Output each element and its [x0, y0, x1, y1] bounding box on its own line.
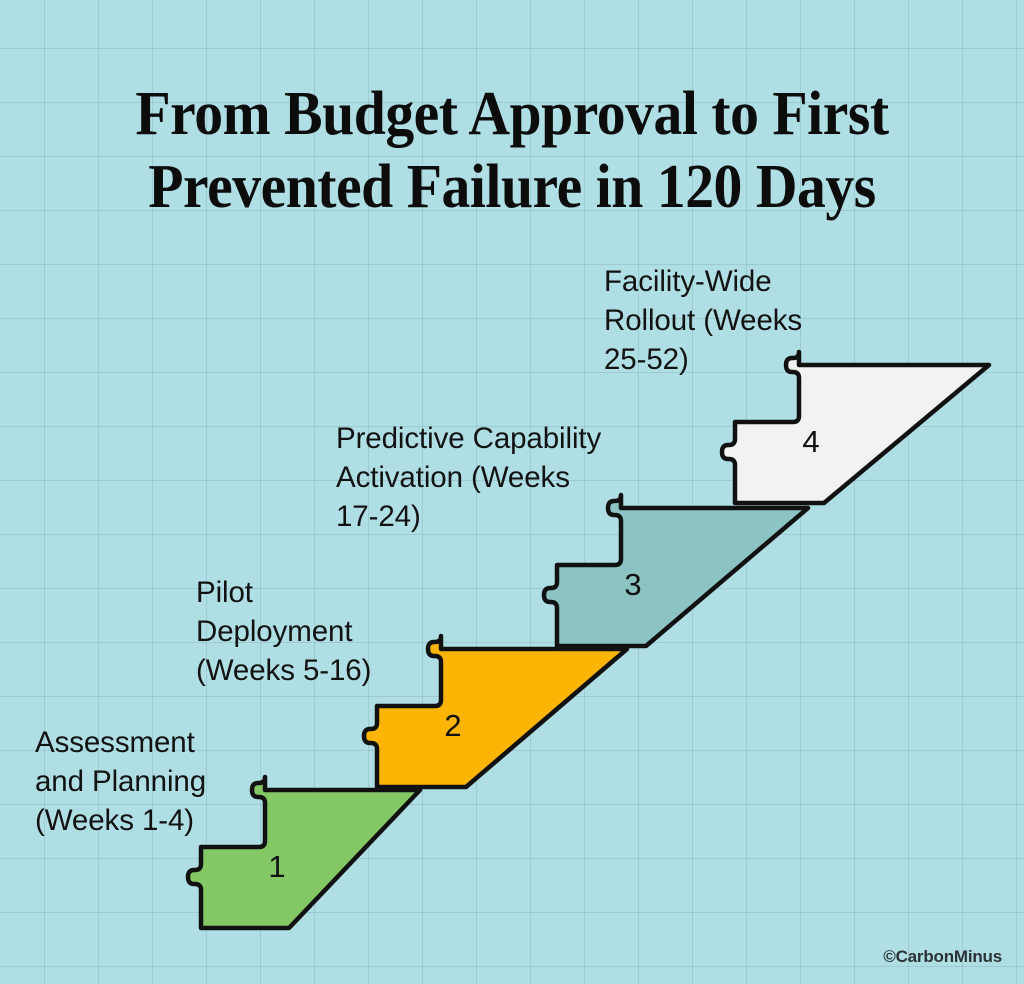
stage-label-1: Assessment and Planning (Weeks 1-4) — [35, 723, 295, 841]
step-number-1: 1 — [268, 849, 285, 884]
stage-label-3: Predictive Capability Activation (Weeks … — [336, 419, 676, 537]
step-number-2: 2 — [444, 708, 461, 743]
step-number-3: 3 — [624, 567, 641, 602]
watermark: ©CarbonMinus — [883, 947, 1002, 967]
stage-label-4: Facility-Wide Rollout (Weeks 25-52) — [604, 262, 854, 380]
step-number-4: 4 — [802, 424, 819, 459]
infographic-canvas: From Budget Approval to First Prevented … — [0, 0, 1024, 984]
stage-label-2: Pilot Deployment (Weeks 5-16) — [196, 573, 426, 691]
